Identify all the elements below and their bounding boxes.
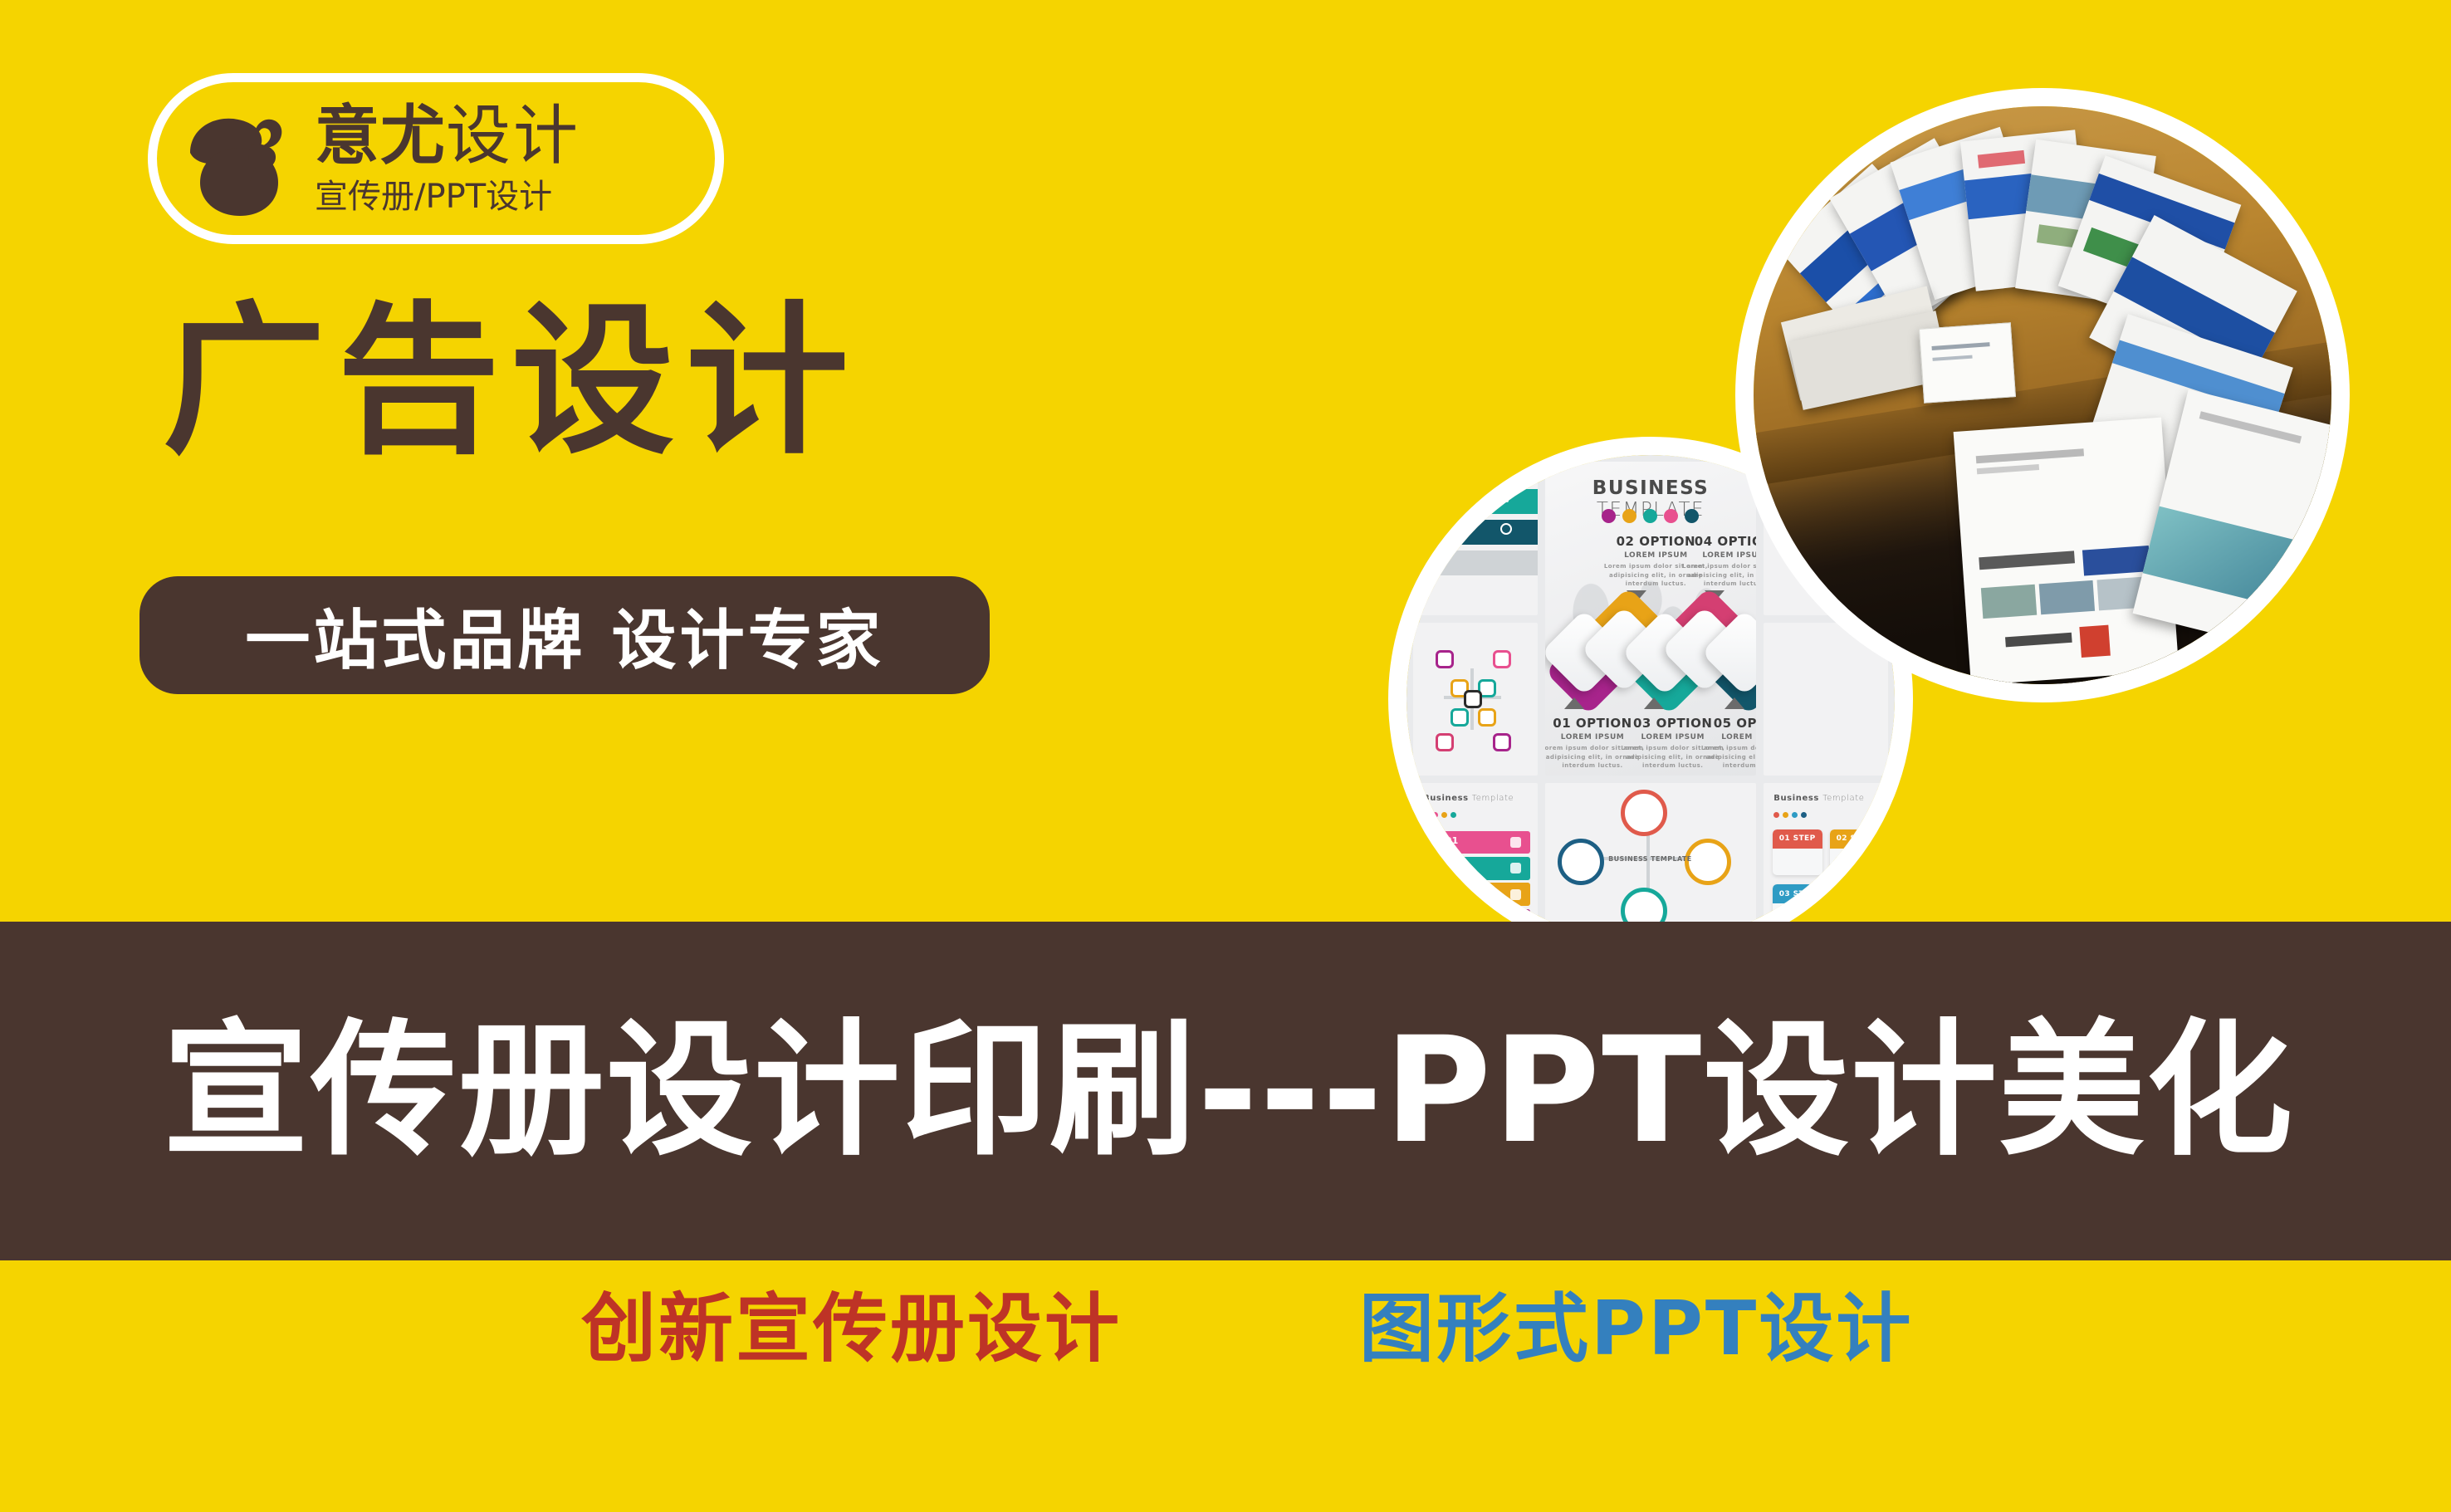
ppt-mini-slide-steps: Business Template 01 STEP 02 STEP 03 STE… [1764, 783, 1888, 937]
funnel-row-num-03: 03 [1434, 888, 1446, 898]
ppt-option-label-04: 04 OPTION LOREM IPSUM Lorem ipsum dolor … [1676, 534, 1757, 589]
matrix-node-icon [1493, 650, 1511, 668]
tagline-row: 创新宣传册设计 图形式PPT设计 [0, 1292, 2451, 1367]
matrix-node-icon [1478, 708, 1496, 727]
ppt-mini-slide-cycle: BUSINESS TEMPLATE [1545, 783, 1757, 937]
ppt-mini-steps-title: Business Template [1773, 794, 1864, 803]
ppt-hero-dot-row [1545, 509, 1757, 523]
ppt-mini-slide-funnel: Business Template 01 02 03 04 [1413, 783, 1538, 937]
ppt-mini-funnel-title: Business Template [1423, 794, 1514, 803]
cycle-center-label: BUSINESS TEMPLATE [1608, 855, 1692, 863]
matrix-node-center-icon [1464, 690, 1482, 708]
up-arrow-icon [1564, 697, 1584, 709]
printed-brochures-photo-circle [1735, 88, 2350, 702]
subtitle-badge: 一站式品牌 设计专家 [139, 576, 990, 694]
ppt-hero-slide: BUSINESS TEMPLATE 02 OPTION LOREM IPSUM … [1545, 462, 1757, 776]
ppt-option-label-05: 05 OPTION LOREM IPSUM Lorem ipsum dolor … [1695, 716, 1756, 771]
funnel-row-num-02: 02 [1441, 862, 1453, 873]
logo-text-block: 意尤设计 宣传册/PPT设计 [315, 104, 580, 213]
cycle-node-01 [1621, 790, 1667, 836]
matrix-node-icon [1451, 708, 1469, 727]
promo-banner: 意尤设计 宣传册/PPT设计 广告设计 一站式品牌 设计专家 [0, 0, 2451, 1512]
business-card-holder [1919, 323, 2016, 404]
main-service-banner-text: 宣传册设计印刷---PPT设计美化 [163, 1018, 2294, 1164]
tagline-brochure: 创新宣传册设计 [581, 1292, 1122, 1367]
matrix-node-icon [1436, 733, 1454, 751]
subtitle-badge-label: 一站式品牌 设计专家 [245, 589, 883, 682]
foreground-brochure [1953, 417, 2178, 684]
funnel-row-num-01: 01 [1446, 835, 1458, 846]
ppt-mini-dot-row [1423, 812, 1456, 818]
logo-brand-name: 意尤设计 [315, 104, 580, 169]
cycle-node-04 [1558, 839, 1604, 885]
main-service-banner: 宣传册设计印刷---PPT设计美化 [0, 922, 2451, 1260]
brand-logo-lockup: 意尤设计 宣传册/PPT设计 [148, 73, 724, 244]
step-card-01: 01 STEP [1773, 829, 1822, 875]
ppt-mini-dot-row [1773, 812, 1807, 818]
matrix-node-icon [1436, 650, 1454, 668]
matrix-node-icon [1493, 733, 1511, 751]
ppt-mini-slide-banner [1413, 462, 1538, 615]
up-arrow-icon [1644, 697, 1664, 709]
yiyou-bird-mark-icon [175, 96, 300, 221]
logo-brand-subtitle: 宣传册/PPT设计 [315, 180, 580, 213]
up-arrow-icon [1725, 697, 1744, 709]
ppt-mini-slide-matrix [1413, 623, 1538, 776]
page-title: 广告设计 [163, 301, 860, 463]
step-card-02: 02 STEP [1830, 829, 1880, 875]
tagline-ppt: 图形式PPT设计 [1359, 1292, 1913, 1367]
